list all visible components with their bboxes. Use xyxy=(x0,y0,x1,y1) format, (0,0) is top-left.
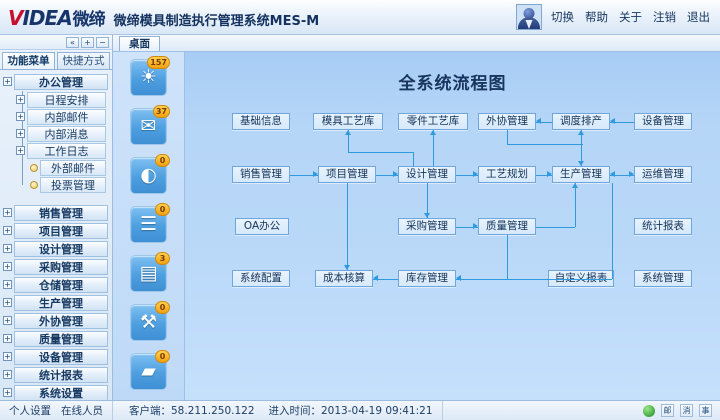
sidebar-subitem-1[interactable]: +内部邮件 xyxy=(2,108,108,125)
sidebar-subitem-3[interactable]: +工作日志 xyxy=(2,142,108,159)
flow-node-n21[interactable]: 系统管理 xyxy=(634,270,692,287)
status-session-info: 客户端：58.211.250.122 进入时间：2013-04-19 09:41… xyxy=(113,401,443,420)
sidebar-group-7: +外协管理 xyxy=(2,312,108,329)
app-header: VIDEA 微缔 微缔模具制造执行管理系统MES-M 切换帮助关于注销退出 xyxy=(0,0,720,35)
sidebar-group-10: +统计报表 xyxy=(2,366,108,383)
badge-count: 0 xyxy=(155,154,170,167)
sidebar-group-11: +系统设置 xyxy=(2,384,108,400)
sidebar-leaf-0[interactable]: 外部邮件 xyxy=(2,159,108,176)
expander-icon[interactable]: + xyxy=(3,370,12,379)
sidebar-subitem-label[interactable]: 日程安排 xyxy=(27,92,106,108)
mail-tray-icon[interactable]: 邮 xyxy=(661,404,674,417)
sidebar-toolbar: «+− xyxy=(0,35,112,50)
flow-edge xyxy=(507,235,508,279)
flow-node-n17[interactable]: 系统配置 xyxy=(232,270,290,287)
sidebar-group-row[interactable]: +外协管理 xyxy=(2,312,108,329)
status-login-time: 进入时间：2013-04-19 09:41:21 xyxy=(269,403,433,418)
sidebar-subitem-0[interactable]: +日程安排 xyxy=(2,91,108,108)
flowchart-title: 全系统流程图 xyxy=(185,69,720,94)
badge-count: 37 xyxy=(153,105,170,118)
sidebar-group-3: +设计管理 xyxy=(2,240,108,257)
sidebar-group-row[interactable]: +质量管理 xyxy=(2,330,108,347)
sidebar-item-label[interactable]: 设备管理 xyxy=(14,349,108,365)
sidebar-group-row[interactable]: +设计管理 xyxy=(2,240,108,257)
sidebar-item-label[interactable]: 采购管理 xyxy=(14,259,108,275)
logo-chinese: 微缔 xyxy=(73,5,105,30)
expander-icon[interactable]: + xyxy=(16,129,25,138)
status-left-links: 个人设置在线人员 xyxy=(0,401,113,420)
collapse-button[interactable]: « xyxy=(66,37,79,48)
personal-settings-link[interactable]: 个人设置 xyxy=(9,403,51,418)
sidebar-item-label[interactable]: 系统设置 xyxy=(14,385,108,401)
badge-count: 3 xyxy=(155,252,170,265)
flow-node-n10[interactable]: 工艺规划 xyxy=(478,166,536,183)
flow-arrow xyxy=(473,223,478,229)
logo-mark: VIDEA xyxy=(8,6,72,30)
flow-node-n15[interactable]: 质量管理 xyxy=(478,218,536,235)
sidebar-tab-1[interactable]: 快捷方式 xyxy=(57,52,110,69)
flow-edge xyxy=(348,152,413,153)
sidebar-group-row[interactable]: +采购管理 xyxy=(2,258,108,275)
flow-arrow xyxy=(373,275,378,281)
sidebar-leaf-label[interactable]: 投票管理 xyxy=(40,177,106,193)
sidebar-item-label[interactable]: 仓储管理 xyxy=(14,277,108,293)
badge-count: 0 xyxy=(155,350,170,363)
sidebar-leaf-label[interactable]: 外部邮件 xyxy=(40,160,106,176)
expander-icon[interactable]: + xyxy=(3,226,12,235)
folder-icon[interactable]: ▰0 xyxy=(130,353,167,390)
flow-arrow xyxy=(610,118,615,124)
flow-arrow xyxy=(578,161,584,166)
flow-arrow xyxy=(344,265,350,270)
flow-arrow xyxy=(430,130,436,135)
sidebar-group-1: +销售管理 xyxy=(2,204,108,221)
expander-icon[interactable]: + xyxy=(3,244,12,253)
header-nav-item-0[interactable]: 切换 xyxy=(551,9,574,25)
sidebar-subitem-2[interactable]: +内部消息 xyxy=(2,125,108,142)
status-bar: 个人设置在线人员 客户端：58.211.250.122 进入时间：2013-04… xyxy=(0,400,720,420)
header-nav-item-4[interactable]: 退出 xyxy=(687,9,710,25)
flow-arrow xyxy=(473,171,478,177)
tools-icon[interactable]: ⚒0 xyxy=(130,304,167,341)
sidebar-group-2: +项目管理 xyxy=(2,222,108,239)
shortcut-icon-column: ☀157✉37◐0☰0▤3⚒0▰0 xyxy=(113,51,185,400)
sidebar-group-0: +办公管理+日程安排+内部邮件+内部消息+工作日志外部邮件投票管理 xyxy=(2,73,108,203)
flow-edge xyxy=(457,279,612,280)
sidebar-group-8: +质量管理 xyxy=(2,330,108,347)
bullet-icon xyxy=(30,181,38,189)
sidebar-item-label[interactable]: 设计管理 xyxy=(14,241,108,257)
flow-node-n2[interactable]: 模具工艺库 xyxy=(313,113,383,130)
flow-arrow xyxy=(393,171,398,177)
expand-all-button[interactable]: + xyxy=(81,37,94,48)
flow-node-n9[interactable]: 设计管理 xyxy=(398,166,456,183)
flow-node-n4[interactable]: 外协管理 xyxy=(478,113,536,130)
sidebar-group-4: +采购管理 xyxy=(2,258,108,275)
flow-node-n16[interactable]: 统计报表 xyxy=(634,218,692,235)
sidebar-subitem-label[interactable]: 内部消息 xyxy=(27,126,106,142)
tab-strip: 桌面 xyxy=(113,35,720,52)
sidebar-group-row[interactable]: +办公管理 xyxy=(2,73,108,90)
expander-icon[interactable]: + xyxy=(3,334,12,343)
sidebar-subitem-label[interactable]: 工作日志 xyxy=(27,143,106,159)
expander-icon[interactable]: + xyxy=(3,77,12,86)
flow-node-n8[interactable]: 项目管理 xyxy=(318,166,376,183)
sidebar-group-row[interactable]: +项目管理 xyxy=(2,222,108,239)
expander-icon[interactable]: + xyxy=(3,298,12,307)
status-client: 客户端：58.211.250.122 xyxy=(129,403,255,418)
flowchart-canvas: 全系统流程图 基础信息模具工艺库零件工艺库外协管理调度排产设备管理销售管理项目管… xyxy=(185,52,720,400)
flow-edge xyxy=(507,130,508,144)
sidebar-subtree: +日程安排+内部邮件+内部消息+工作日志外部邮件投票管理 xyxy=(2,91,108,193)
document-icon[interactable]: ▤3 xyxy=(130,255,167,292)
status-tray: 邮消事 xyxy=(643,404,720,417)
sidebar: «+− 功能菜单快捷方式 +办公管理+日程安排+内部邮件+内部消息+工作日志外部… xyxy=(0,35,113,400)
header-right: 切换帮助关于注销退出 xyxy=(516,4,720,30)
flow-node-n7[interactable]: 销售管理 xyxy=(232,166,290,183)
sidebar-tree[interactable]: +办公管理+日程安排+内部邮件+内部消息+工作日志外部邮件投票管理+销售管理+项… xyxy=(0,69,112,400)
flow-node-n13[interactable]: OA办公 xyxy=(235,218,289,235)
flow-arrow xyxy=(424,213,430,218)
schedule-icon[interactable]: ☀157 xyxy=(130,59,167,96)
sidebar-group-row[interactable]: +销售管理 xyxy=(2,204,108,221)
flow-arrow xyxy=(547,171,552,177)
flow-arrow xyxy=(572,183,578,188)
avatar[interactable] xyxy=(516,4,542,30)
sidebar-group-row[interactable]: +系统设置 xyxy=(2,384,108,400)
sidebar-item-label[interactable]: 办公管理 xyxy=(14,74,108,90)
badge-count: 157 xyxy=(147,56,170,69)
expander-icon[interactable]: + xyxy=(3,262,12,271)
flow-arrow xyxy=(629,171,634,177)
flow-arrow xyxy=(345,130,351,135)
expander-icon[interactable]: + xyxy=(16,112,25,121)
sidebar-item-label[interactable]: 生产管理 xyxy=(14,295,108,311)
header-nav-item-2[interactable]: 关于 xyxy=(619,9,642,25)
header-nav: 切换帮助关于注销退出 xyxy=(551,9,710,25)
header-nav-item-3[interactable]: 注销 xyxy=(653,9,676,25)
expander-icon[interactable]: + xyxy=(16,146,25,155)
flow-node-n1[interactable]: 基础信息 xyxy=(232,113,290,130)
flow-node-n14[interactable]: 采购管理 xyxy=(398,218,456,235)
flow-node-n12[interactable]: 运维管理 xyxy=(634,166,692,183)
sidebar-item-label[interactable]: 质量管理 xyxy=(14,331,108,347)
flow-node-n19[interactable]: 库存管理 xyxy=(398,270,456,287)
expander-icon[interactable]: + xyxy=(3,352,12,361)
sidebar-tab-0[interactable]: 功能菜单 xyxy=(2,52,55,69)
sidebar-group-9: +设备管理 xyxy=(2,348,108,365)
logo-rest: IDEA xyxy=(22,6,71,30)
application-window: VIDEA 微缔 微缔模具制造执行管理系统MES-M 切换帮助关于注销退出 «+… xyxy=(0,0,720,420)
flow-edge xyxy=(612,183,613,279)
flow-node-n3[interactable]: 零件工艺库 xyxy=(398,113,468,130)
flow-node-n11[interactable]: 生产管理 xyxy=(552,166,610,183)
flow-node-n6[interactable]: 设备管理 xyxy=(634,113,692,130)
flow-arrow xyxy=(610,171,615,177)
flow-edge xyxy=(347,183,348,270)
online-users-link[interactable]: 在线人员 xyxy=(61,403,103,418)
collapse-all-button[interactable]: − xyxy=(96,37,109,48)
flow-edge xyxy=(575,183,576,227)
sidebar-group-row[interactable]: +仓储管理 xyxy=(2,276,108,293)
expander-icon[interactable]: + xyxy=(3,280,12,289)
logo-v: V xyxy=(8,6,22,30)
sidebar-item-label[interactable]: 销售管理 xyxy=(14,205,108,221)
flow-edge xyxy=(536,227,575,228)
expander-icon[interactable]: + xyxy=(3,316,12,325)
header-nav-item-1[interactable]: 帮助 xyxy=(585,9,608,25)
worklog-icon[interactable]: ☰0 xyxy=(130,206,167,243)
badge-count: 0 xyxy=(155,301,170,314)
flow-arrow xyxy=(536,118,541,124)
sidebar-group-row[interactable]: +生产管理 xyxy=(2,294,108,311)
badge-count: 0 xyxy=(155,203,170,216)
sidebar-spacer xyxy=(2,195,108,203)
sidebar-subitem-label[interactable]: 内部邮件 xyxy=(27,109,106,125)
sidebar-item-label[interactable]: 项目管理 xyxy=(14,223,108,239)
sidebar-group-row[interactable]: +设备管理 xyxy=(2,348,108,365)
sidebar-item-label[interactable]: 统计报表 xyxy=(14,367,108,383)
flow-node-n5[interactable]: 调度排产 xyxy=(552,113,610,130)
flow-arrow xyxy=(313,171,318,177)
expander-icon[interactable]: + xyxy=(3,388,12,397)
flow-arrow xyxy=(578,130,584,135)
sidebar-item-label[interactable]: 外协管理 xyxy=(14,313,108,329)
flow-edge xyxy=(413,152,414,166)
sidebar-group-row[interactable]: +统计报表 xyxy=(2,366,108,383)
expander-icon[interactable]: + xyxy=(16,95,25,104)
sidebar-group-5: +仓储管理 xyxy=(2,276,108,293)
flow-edge xyxy=(433,130,434,166)
mail-icon[interactable]: ✉37 xyxy=(130,108,167,145)
message-tray-icon[interactable]: 消 xyxy=(680,404,693,417)
flow-node-n18[interactable]: 成本核算 xyxy=(315,270,373,287)
tab-0[interactable]: 桌面 xyxy=(119,36,160,51)
flow-edge xyxy=(507,144,583,145)
expander-icon[interactable]: + xyxy=(3,208,12,217)
online-status-dot[interactable] xyxy=(643,405,655,417)
sidebar-leaf-1[interactable]: 投票管理 xyxy=(2,176,108,193)
message-icon[interactable]: ◐0 xyxy=(130,157,167,194)
page-title: 微缔模具制造执行管理系统MES-M xyxy=(114,10,320,29)
bullet-icon xyxy=(30,164,38,172)
sidebar-tabs: 功能菜单快捷方式 xyxy=(0,50,112,69)
app-logo: VIDEA 微缔 微缔模具制造执行管理系统MES-M xyxy=(0,5,319,30)
task-tray-icon[interactable]: 事 xyxy=(699,404,712,417)
sidebar-group-6: +生产管理 xyxy=(2,294,108,311)
